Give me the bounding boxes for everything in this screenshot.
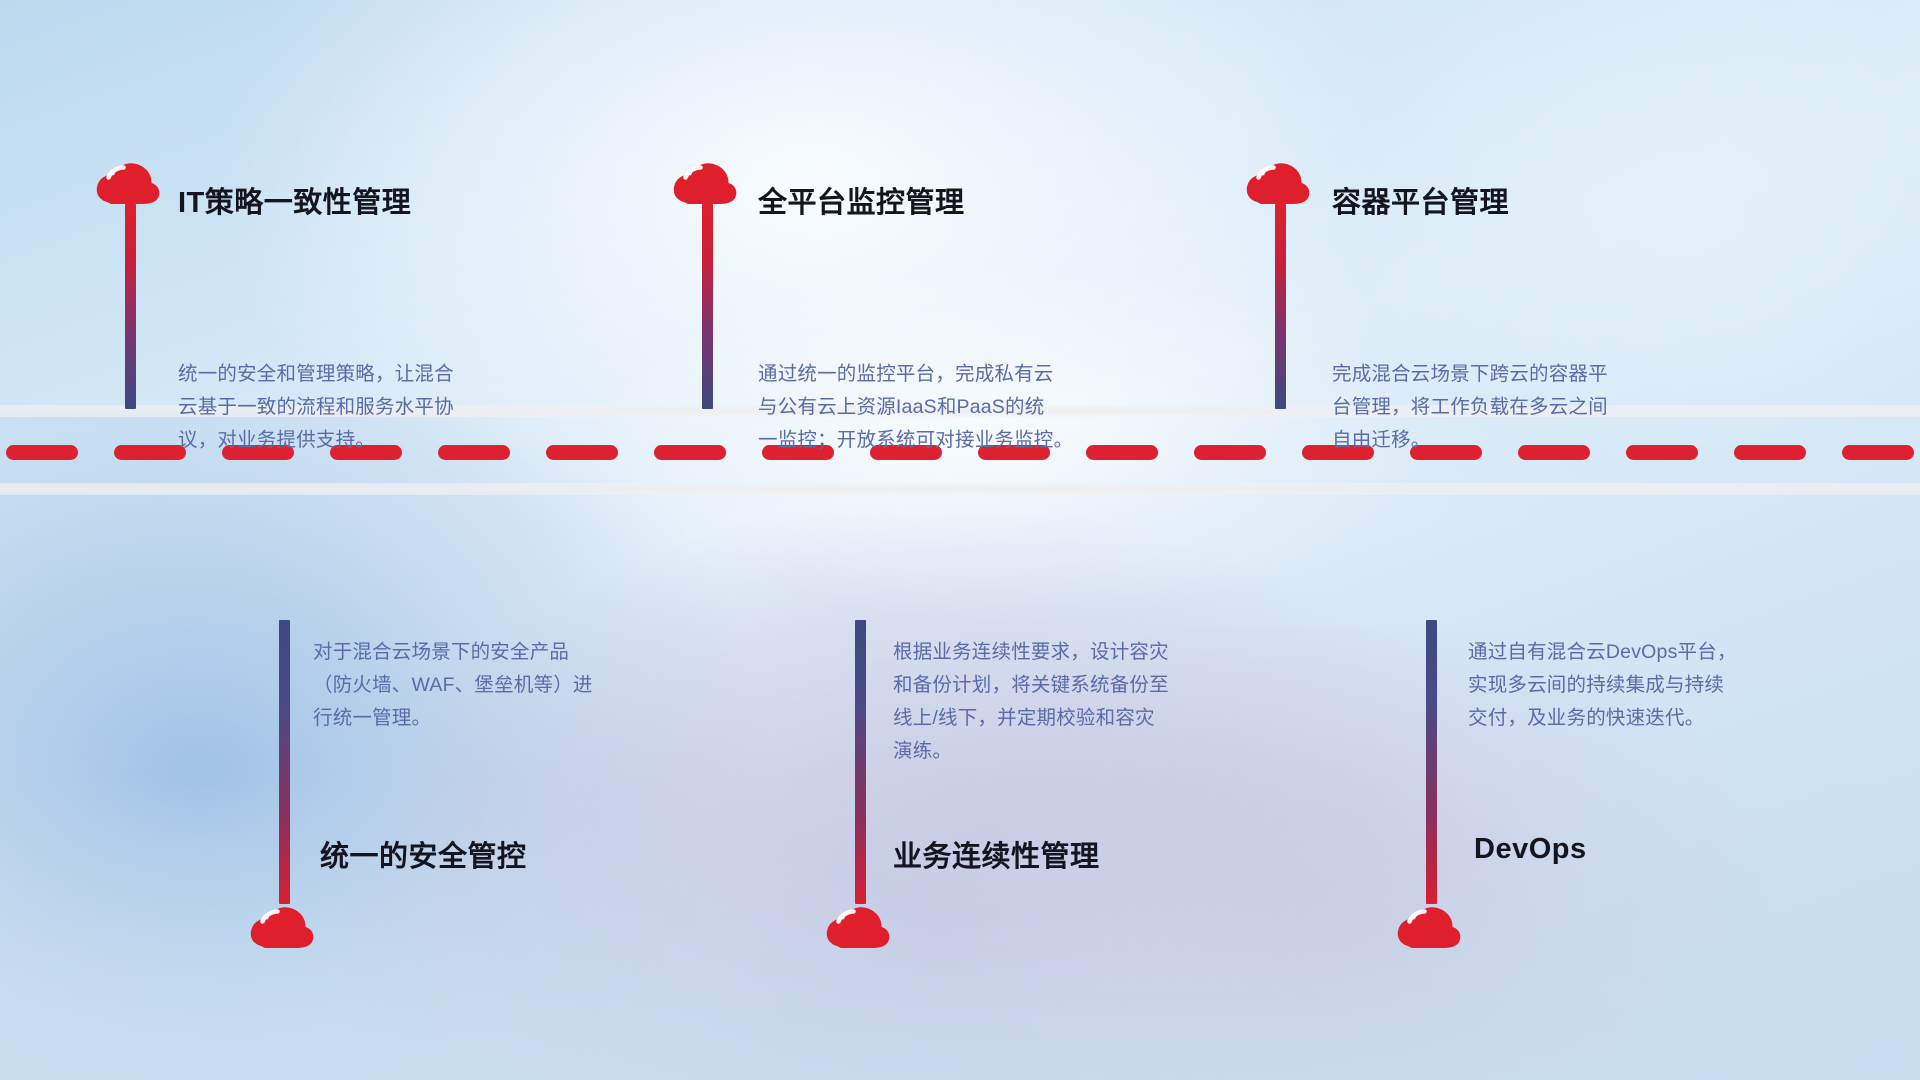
road-dash xyxy=(1842,445,1914,460)
cloud-pin-icon xyxy=(1245,160,1311,204)
pin-marker-bottom-2 xyxy=(825,620,895,948)
section-body-bottom-1: 对于混合云场景下的安全产品 （防火墙、WAF、堡垒机等）进 行统一管理。 xyxy=(313,636,743,735)
pin-stem xyxy=(855,620,866,904)
section-title-bottom-2: 业务连续性管理 xyxy=(893,833,1100,875)
section-title-bottom-3: DevOps xyxy=(1474,833,1587,866)
pin-stem xyxy=(1275,204,1286,409)
section-title-top-3: 容器平台管理 xyxy=(1332,179,1509,221)
cloud-pin-icon xyxy=(672,160,738,204)
cloud-pin-icon xyxy=(1396,904,1462,948)
pin-stem xyxy=(125,204,136,409)
road-dash xyxy=(1194,445,1266,460)
infographic-canvas: IT策略一致性管理 统一的安全和管理策略，让混合 云基于一致的流程和服务水平协 … xyxy=(0,0,1920,1080)
section-body-top-2: 通过统一的监控平台，完成私有云 与公有云上资源IaaS和PaaS的统 一监控；开… xyxy=(758,358,1198,457)
section-body-bottom-3: 通过自有混合云DevOps平台， 实现多云间的持续集成与持续 交付，及业务的快速… xyxy=(1468,636,1888,735)
road-band-bottom xyxy=(0,483,1920,495)
section-body-top-3: 完成混合云场景下跨云的容器平 台管理，将工作负载在多云之间 自由迁移。 xyxy=(1332,358,1762,457)
road-dash xyxy=(114,445,186,460)
pin-marker-top-3 xyxy=(1245,160,1315,409)
pin-marker-top-1 xyxy=(95,160,165,409)
section-body-bottom-2: 根据业务连续性要求，设计容灾 和备份计划，将关键系统备份至 线上/线下，并定期校… xyxy=(893,636,1333,768)
pin-marker-bottom-1 xyxy=(249,620,319,948)
pin-marker-bottom-3 xyxy=(1396,620,1466,948)
road-dash xyxy=(654,445,726,460)
pin-stem xyxy=(279,620,290,904)
section-title-top-1: IT策略一致性管理 xyxy=(178,179,411,221)
cloud-pin-icon xyxy=(825,904,891,948)
cloud-pin-icon xyxy=(95,160,161,204)
road-dash xyxy=(6,445,78,460)
pin-stem xyxy=(1426,620,1437,904)
cloud-pin-icon xyxy=(249,904,315,948)
pin-marker-top-2 xyxy=(672,160,742,409)
section-title-bottom-1: 统一的安全管控 xyxy=(320,833,527,875)
section-body-top-1: 统一的安全和管理策略，让混合 云基于一致的流程和服务水平协 议，对业务提供支持。 xyxy=(178,358,598,457)
pin-stem xyxy=(702,204,713,409)
section-title-top-2: 全平台监控管理 xyxy=(758,179,965,221)
